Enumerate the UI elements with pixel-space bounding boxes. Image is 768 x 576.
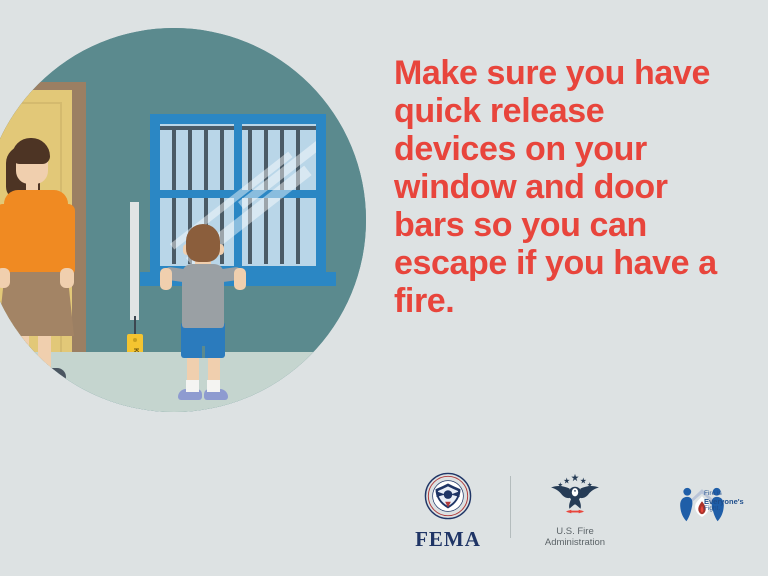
- fief-wordmark: Fire is Everyone's Fight.: [704, 490, 744, 513]
- tag-hole: [133, 338, 137, 342]
- window-frame: [150, 114, 326, 276]
- quick-release-device: [130, 202, 139, 320]
- headline-text: Make sure you have quick release devices…: [394, 54, 734, 320]
- usfa-line-2: Administration: [520, 537, 630, 548]
- usfa-eagle-emblem: [547, 472, 603, 518]
- boy-shorts-split: [202, 346, 205, 358]
- boy-hand-right: [234, 268, 246, 290]
- woman-arm-right: [60, 204, 75, 276]
- usfa-logo: U.S. Fire Administration: [520, 472, 630, 548]
- illustration-circle: KICK: [0, 28, 366, 412]
- dhs-seal: [424, 472, 472, 520]
- fire-is-everyones-fight-logo: Fire is Everyone's Fight.: [650, 482, 754, 529]
- boy-hand-left: [160, 268, 172, 290]
- fief-line-3: Fight.: [704, 505, 744, 513]
- logo-divider: [510, 476, 511, 538]
- boy-sock-left: [186, 380, 199, 392]
- floor: [0, 352, 366, 412]
- woman-arm-left: [0, 204, 11, 276]
- woman-hand-left: [0, 268, 10, 288]
- boy-sock-right: [207, 380, 220, 392]
- usfa-line-1: U.S. Fire: [520, 526, 630, 537]
- usfa-wordmark: U.S. Fire Administration: [520, 526, 630, 548]
- boy-head: [186, 224, 220, 262]
- logo-bar: FEMA: [392, 470, 748, 552]
- woman-hand-right: [60, 268, 74, 288]
- fire-safety-poster: KICK Mak: [0, 0, 768, 576]
- fief-line-2: Everyone's: [704, 498, 744, 506]
- fema-logo: FEMA: [394, 472, 502, 552]
- woman-torso: [4, 190, 68, 272]
- fema-wordmark: FEMA: [394, 527, 502, 552]
